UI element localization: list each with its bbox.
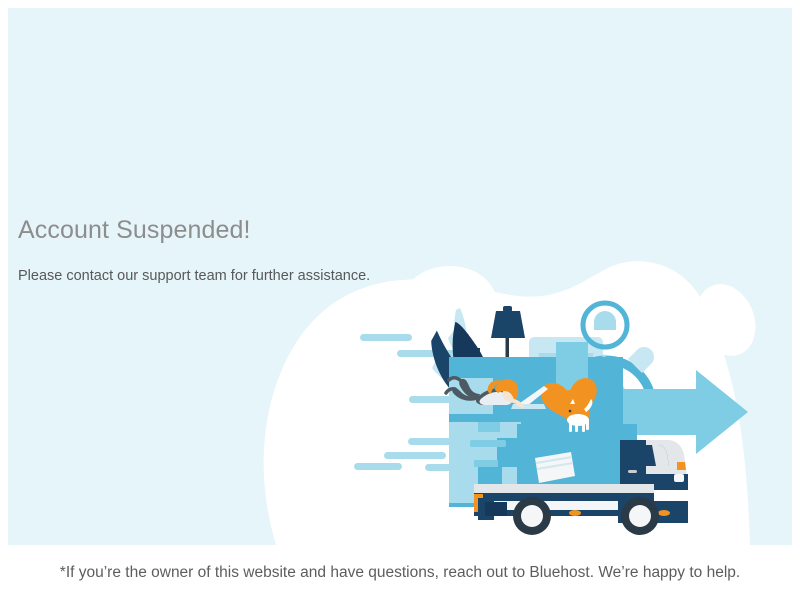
owner-note: *If you’re the owner of this website and… [60,563,740,583]
message-block: Account Suspended! Please contact our su… [18,214,538,286]
content-panel: Account Suspended! Please contact our su… [8,8,792,545]
moving-boxes [449,342,637,507]
support-message: Please contact our support team for furt… [18,266,538,286]
footer-bar: *If you’re the owner of this website and… [0,545,800,600]
suspended-page: Account Suspended! Please contact our su… [0,0,800,600]
page-title: Account Suspended! [18,214,538,246]
